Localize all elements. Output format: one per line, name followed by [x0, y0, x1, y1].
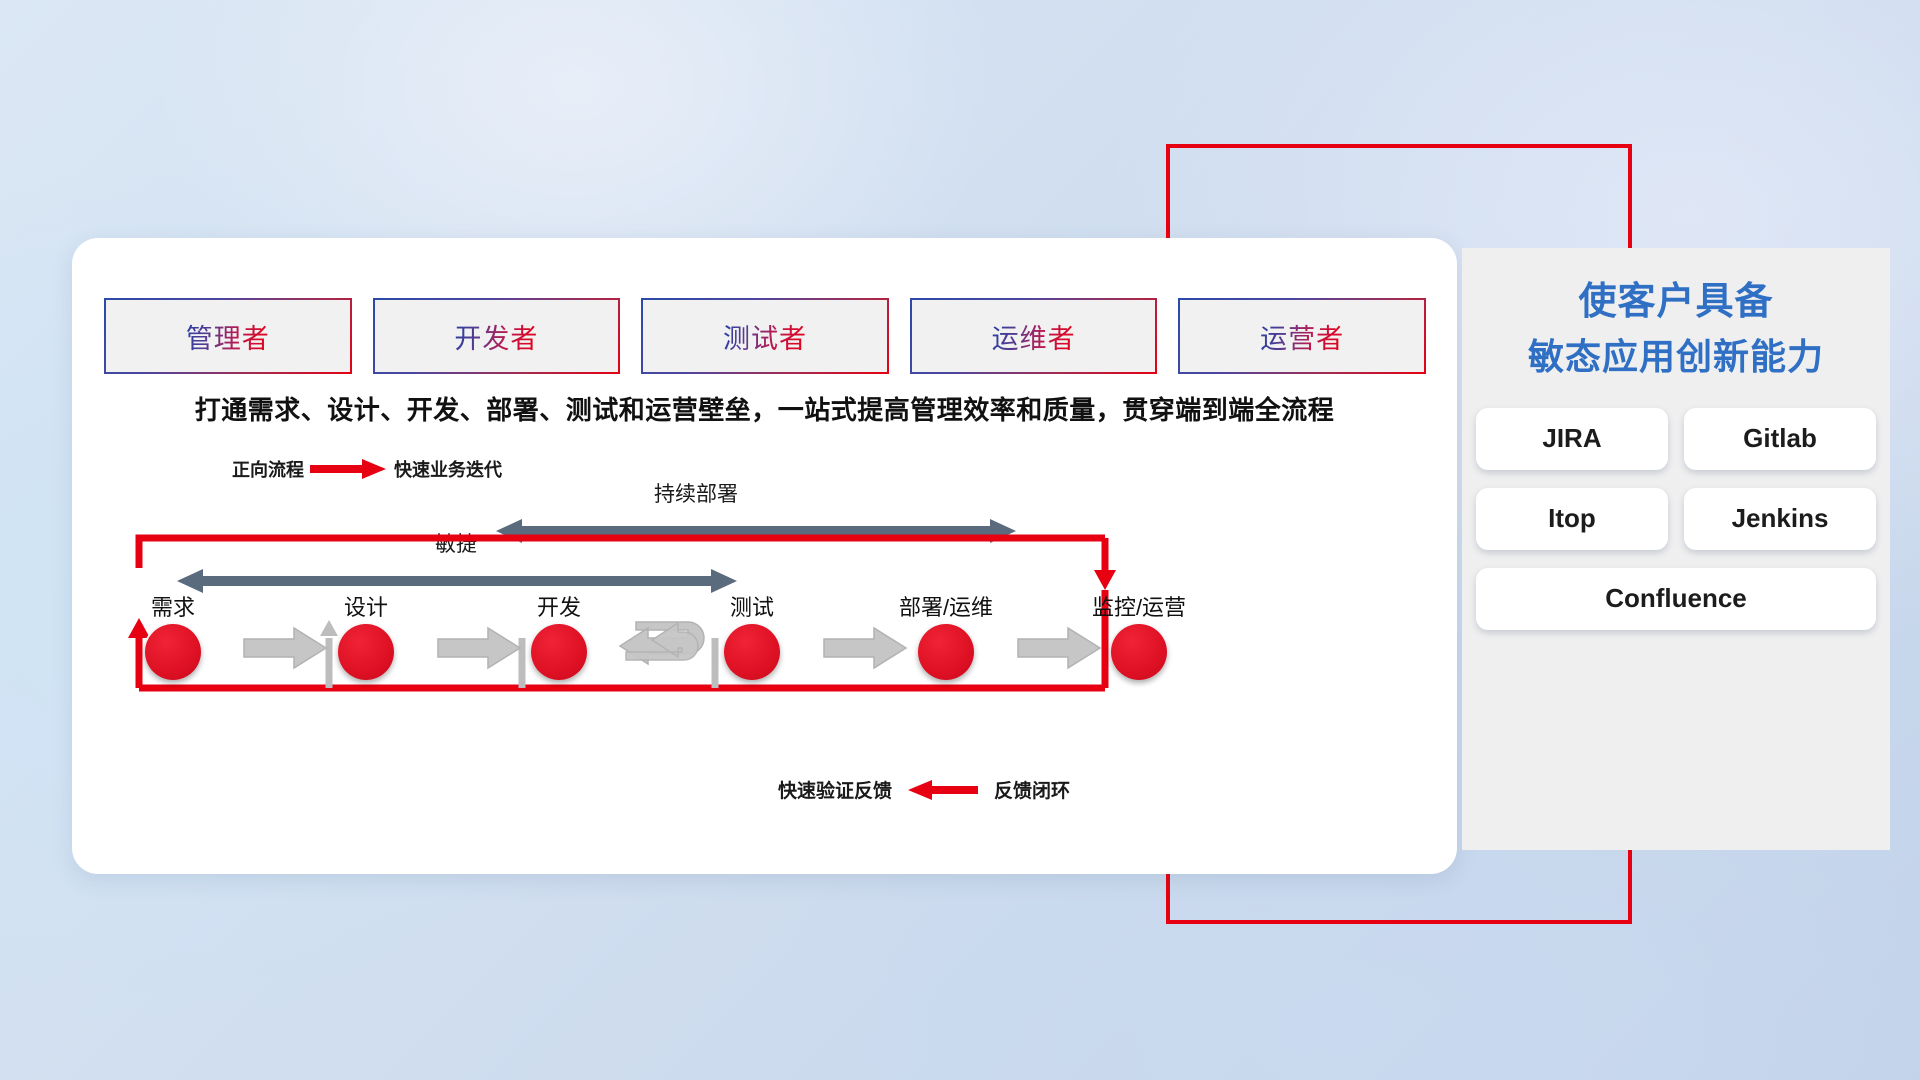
side-panel-title-line1: 使客户具备 — [1462, 274, 1890, 330]
role-label: 测试者 — [723, 317, 807, 356]
legend-forward-right-label: 快速业务迭代 — [394, 456, 502, 482]
tool-label: Jenkins — [1732, 503, 1829, 534]
span-label-continuous-deploy: 持续部署 — [654, 478, 738, 508]
tools-grid: JIRA Gitlab Itop Jenkins Confluence — [1476, 408, 1876, 630]
stage-label: 需求 — [113, 590, 233, 622]
tool-pill-confluence[interactable]: Confluence — [1476, 568, 1876, 630]
stage-design[interactable]: 设计 — [306, 590, 426, 680]
role-box-developer[interactable]: 开发者 — [375, 300, 619, 372]
main-diagram-card: 管理者 开发者 测试者 运维者 运营者 打通需求、设计、开发、部署、测试和运营壁… — [72, 238, 1457, 874]
legend-forward-left-label: 正向流程 — [232, 456, 304, 482]
stage-monitor-operations[interactable]: 监控/运营 — [1079, 590, 1199, 680]
stage-dot-icon — [145, 624, 201, 680]
tool-label: Itop — [1548, 503, 1596, 534]
stage-label: 设计 — [306, 590, 426, 622]
stage-dot-icon — [1111, 624, 1167, 680]
stage-label: 测试 — [692, 590, 812, 622]
stage-label: 部署/运维 — [886, 590, 1006, 622]
stage-label: 开发 — [499, 590, 619, 622]
stage-dot-icon — [531, 624, 587, 680]
role-label: 运维者 — [992, 317, 1076, 356]
side-panel-title: 使客户具备 敏态应用创新能力 — [1462, 274, 1890, 384]
role-label: 运营者 — [1260, 317, 1344, 356]
role-label: 开发者 — [454, 317, 538, 356]
span-label-agile: 敏捷 — [435, 528, 477, 558]
tool-label: JIRA — [1542, 423, 1601, 454]
stage-testing[interactable]: 测试 — [692, 590, 812, 680]
tagline-text: 打通需求、设计、开发、部署、测试和运营壁垒，一站式提高管理效率和质量，贯穿端到端… — [72, 390, 1457, 427]
role-box-operations[interactable]: 运营者 — [1180, 300, 1424, 372]
feedback-arrow-icon — [908, 779, 978, 801]
stage-dot-icon — [918, 624, 974, 680]
legend-feedback-right-label: 反馈闭环 — [994, 776, 1070, 803]
stage-label: 监控/运营 — [1079, 590, 1199, 622]
tool-pill-jenkins[interactable]: Jenkins — [1684, 488, 1876, 550]
legend-feedback-left-label: 快速验证反馈 — [778, 776, 892, 803]
side-panel-title-line2: 敏态应用创新能力 — [1462, 330, 1890, 383]
stage-dot-icon — [724, 624, 780, 680]
tool-pill-itop[interactable]: Itop — [1476, 488, 1668, 550]
legend-feedback-loop: 快速验证反馈 反馈闭环 — [778, 776, 1070, 803]
tool-label: Gitlab — [1743, 423, 1817, 454]
forward-arrow-icon — [310, 458, 388, 480]
tool-pill-jira[interactable]: JIRA — [1476, 408, 1668, 470]
roles-row: 管理者 开发者 测试者 运维者 运营者 — [106, 300, 1424, 372]
stage-dot-icon — [338, 624, 394, 680]
tool-pill-gitlab[interactable]: Gitlab — [1684, 408, 1876, 470]
continuous-deploy-double-arrow-icon — [496, 518, 1016, 544]
role-box-ops[interactable]: 运维者 — [912, 300, 1156, 372]
legend-forward-flow: 正向流程 快速业务迭代 — [232, 456, 502, 482]
role-box-manager[interactable]: 管理者 — [106, 300, 350, 372]
role-box-tester[interactable]: 测试者 — [643, 300, 887, 372]
stage-requirement[interactable]: 需求 — [113, 590, 233, 680]
role-label: 管理者 — [186, 317, 270, 356]
tool-label: Confluence — [1605, 583, 1747, 614]
stage-development[interactable]: 开发 — [499, 590, 619, 680]
capability-side-panel: 使客户具备 敏态应用创新能力 JIRA Gitlab Itop Jenkins … — [1462, 248, 1890, 850]
stage-deploy-ops[interactable]: 部署/运维 — [886, 590, 1006, 680]
pipeline: 需求 设计 开发 测试 部署/运维 — [106, 590, 1424, 720]
